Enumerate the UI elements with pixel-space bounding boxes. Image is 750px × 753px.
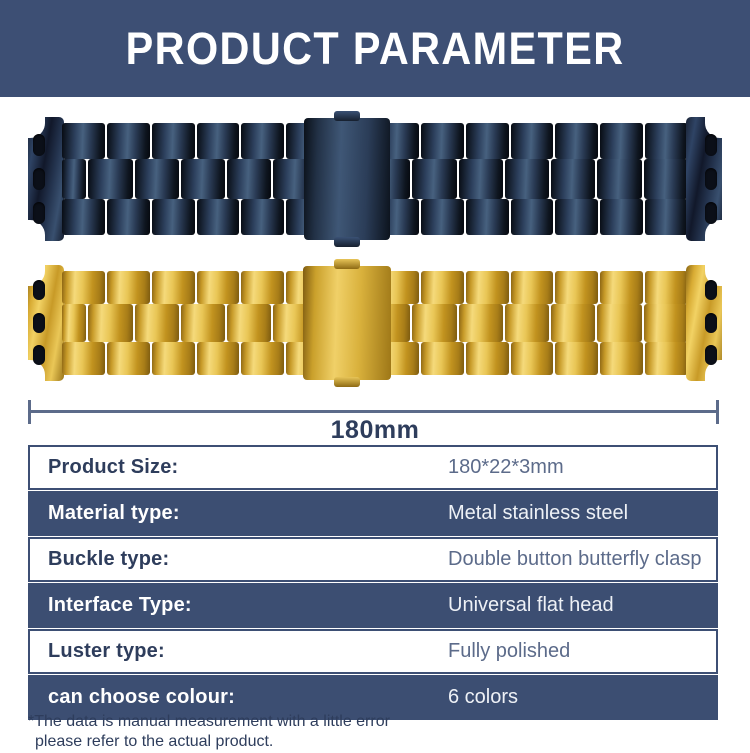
gold-band-butterfly-clasp [303,266,391,380]
spec-value: 6 colors [448,686,518,709]
gold-band-lug-left-icon [28,265,64,381]
blue-watch-band [28,115,722,243]
table-row: Material type: Metal stainless steel [28,491,718,536]
gold-watch-band [28,263,722,383]
band-lug-left-icon [28,117,64,241]
blue-band-butterfly-clasp [304,118,390,240]
page-title: PRODUCT PARAMETER [126,23,625,75]
spec-value: Universal flat head [448,594,614,617]
spec-label: can choose colour: [48,686,448,709]
product-parameter-page: PRODUCT PARAMETER [0,0,750,750]
spec-value: 180*22*3mm [448,456,564,479]
spec-label: Buckle type: [48,548,448,571]
spec-table: Product Size: 180*22*3mm Material type: … [28,445,718,721]
table-row: Interface Type: Universal flat head [28,583,718,628]
dimension-annotation: 180mm [0,398,750,446]
band-lug-right-icon [686,117,722,241]
spec-label: Product Size: [48,456,448,479]
footnote-line-1: *The data is manual measurement with a l… [28,712,728,732]
spec-label: Material type: [48,502,448,525]
table-row: Buckle type: Double button butterfly cla… [28,537,718,582]
spec-value: Double button butterfly clasp [448,548,702,571]
dimension-line [28,410,718,413]
table-row: Product Size: 180*22*3mm [28,445,718,490]
spec-label: Interface Type: [48,594,448,617]
product-image-area [0,97,750,393]
spec-value: Metal stainless steel [448,502,628,525]
gold-band-lug-right-icon [686,265,722,381]
dimension-label: 180mm [0,416,750,445]
table-row: Luster type: Fully polished [28,629,718,674]
spec-value: Fully polished [448,640,570,663]
header-banner: PRODUCT PARAMETER [0,0,750,97]
footnote: *The data is manual measurement with a l… [28,712,728,753]
spec-label: Luster type: [48,640,448,663]
